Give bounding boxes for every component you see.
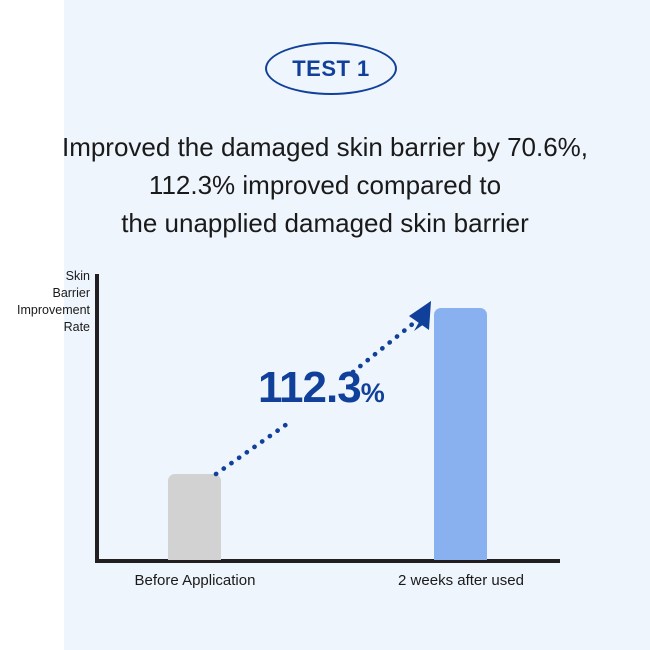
y-axis-label-line-4: Rate [0, 319, 90, 336]
bar-chart: Skin Barrier Improvement Rate Before App… [0, 0, 650, 650]
y-axis-label: Skin Barrier Improvement Rate [0, 268, 90, 336]
bar-before-application [168, 474, 221, 560]
improvement-annotation-unit: % [361, 378, 385, 408]
bar-two-weeks-after-used [434, 308, 487, 560]
y-axis-label-line-1: Skin [0, 268, 90, 285]
improvement-annotation-value: 112.3 [258, 363, 361, 412]
bar-label-two-weeks-after-used: 2 weeks after used [370, 571, 552, 591]
x-axis-line [95, 559, 560, 563]
y-axis-line [95, 274, 99, 563]
infographic-page: TEST 1 Improved the damaged skin barrier… [0, 0, 650, 650]
y-axis-label-line-2: Barrier [0, 285, 90, 302]
improvement-annotation: 112.3% [258, 366, 385, 410]
y-axis-label-line-3: Improvement [0, 302, 90, 319]
bar-label-before-application: Before Application [104, 571, 286, 591]
